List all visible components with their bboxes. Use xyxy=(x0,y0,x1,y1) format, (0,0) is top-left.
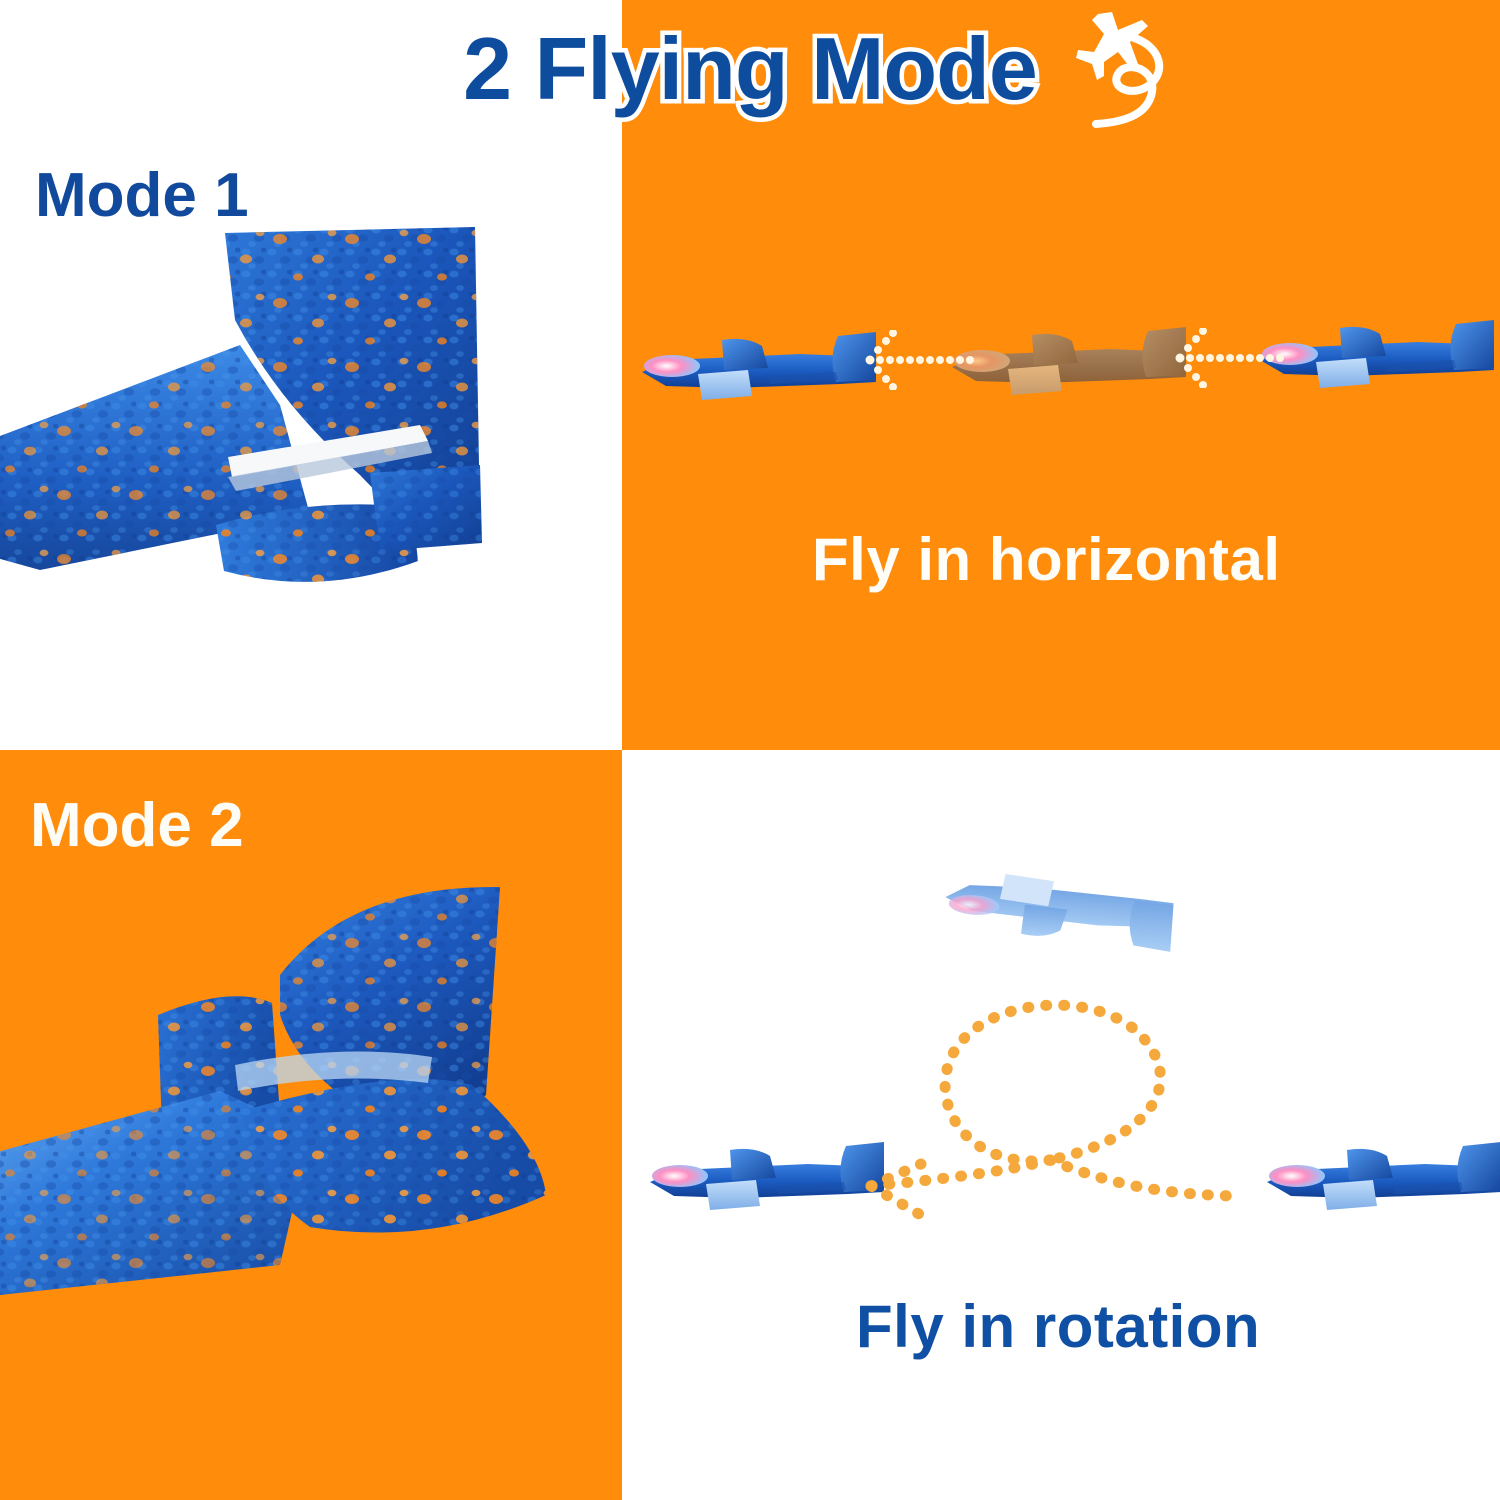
dotted-arrow-left-1 xyxy=(858,330,978,390)
mode-1-label: Mode 1 xyxy=(35,160,249,231)
mode-2-product-photo xyxy=(0,865,580,1295)
dotted-loop-trajectory xyxy=(845,980,1315,1230)
glider-horizontal-middle-faded xyxy=(950,325,1188,405)
infographic-canvas: 2 Flying Mode Mode 1 Mode 2 Fly in horiz… xyxy=(0,0,1500,1500)
mode-1-product-photo xyxy=(0,225,555,625)
glider-horizontal-right xyxy=(1258,318,1496,398)
mode-2-label: Mode 2 xyxy=(30,790,244,861)
caption-fly-in-horizontal: Fly in horizontal xyxy=(812,525,1281,594)
caption-fly-in-rotation: Fly in rotation xyxy=(856,1292,1260,1361)
dotted-arrow-left-2 xyxy=(1168,328,1288,388)
glider-horizontal-left xyxy=(640,330,878,410)
glider-rotation-inverted-top xyxy=(938,860,1181,954)
